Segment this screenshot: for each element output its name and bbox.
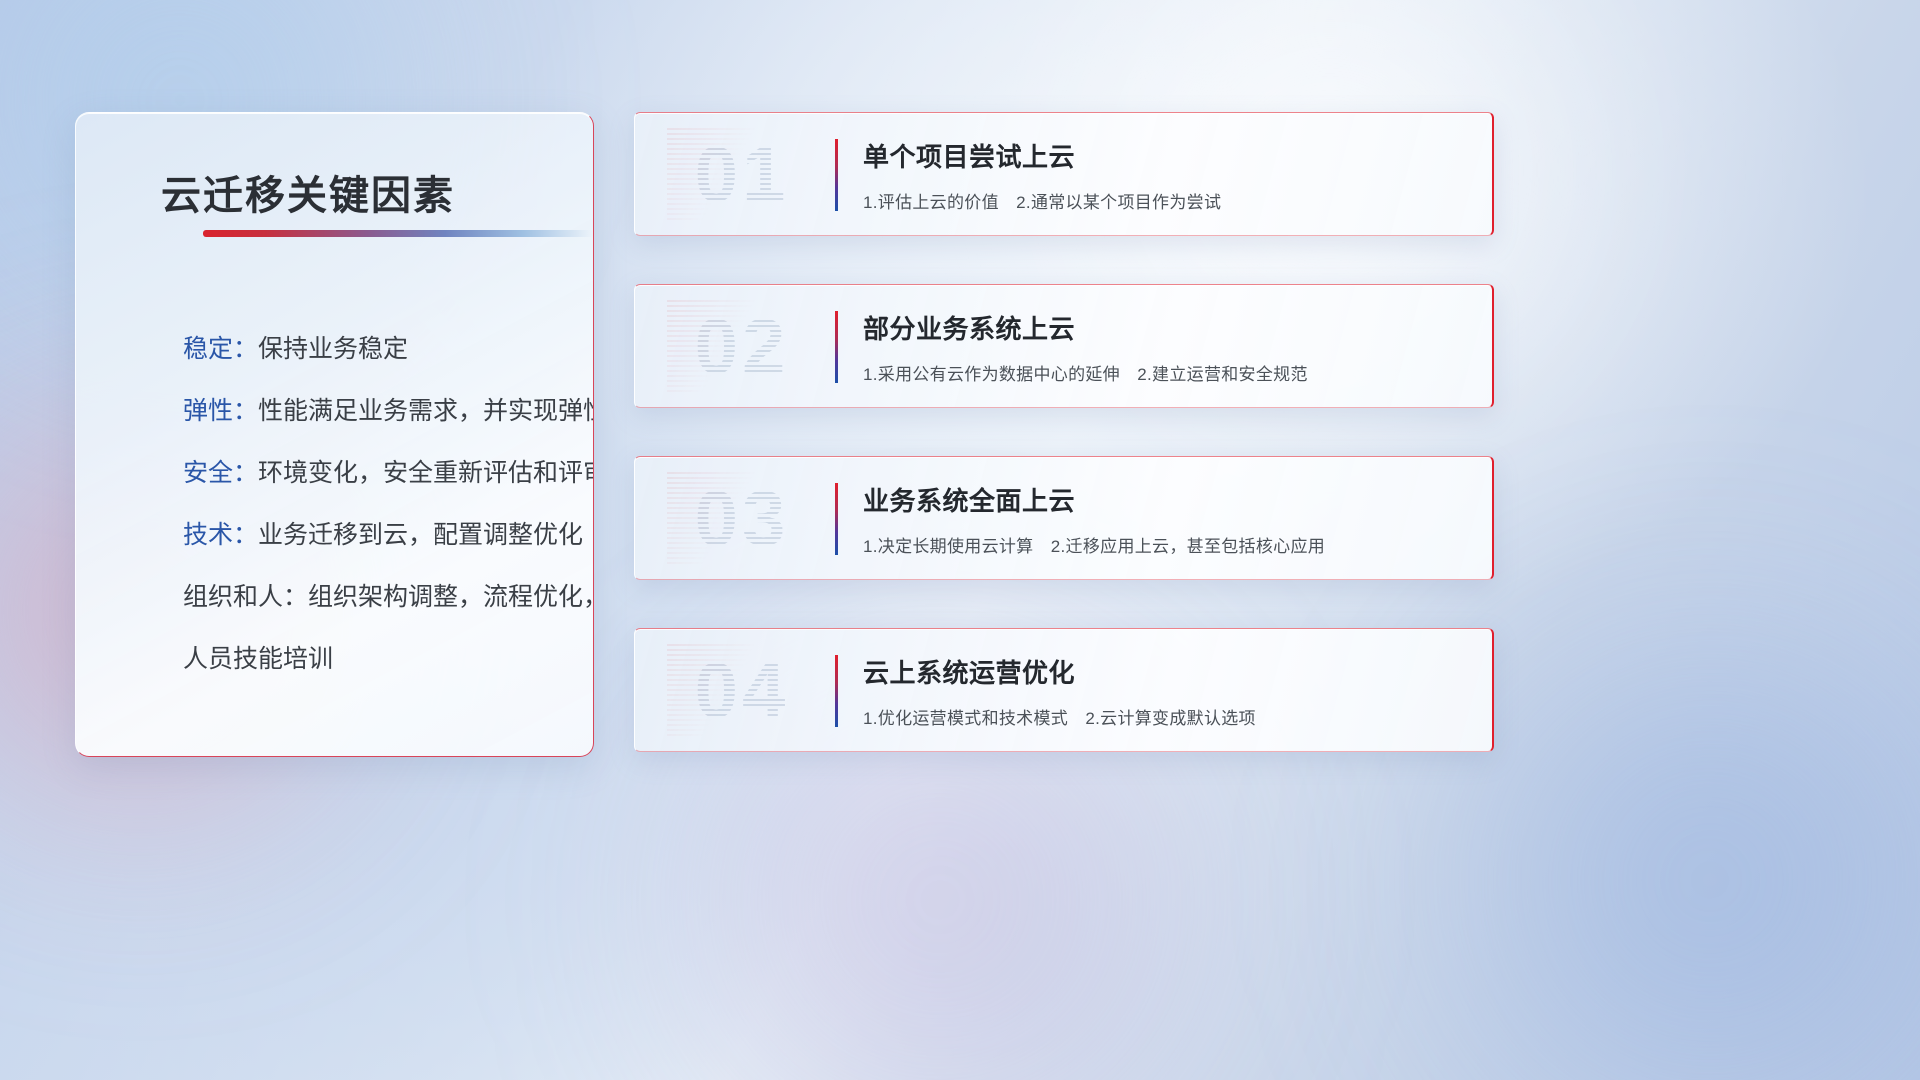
list-item: 稳定：保持业务稳定 [183, 318, 573, 380]
list-item-value: 业务迁移到云，配置调整优化 [258, 521, 583, 549]
page-title: 云迁移关键因素 [161, 163, 455, 221]
slide-stage: 云迁移关键因素 稳定：保持业务稳定 弹性：性能满足业务需求，并实现弹性 安全：环… [0, 0, 1920, 1080]
key-factors-list: 稳定：保持业务稳定 弹性：性能满足业务需求，并实现弹性 安全：环境变化，安全重新… [183, 318, 573, 690]
stage-number-04: 04 [667, 644, 817, 736]
list-item: 技术：业务迁移到云，配置调整优化 [183, 504, 573, 566]
key-factors-panel: 云迁移关键因素 稳定：保持业务稳定 弹性：性能满足业务需求，并实现弹性 安全：环… [75, 112, 594, 757]
stage-number-02: 02 [667, 300, 817, 392]
list-item-key: 稳定： [183, 335, 258, 363]
stage-text-group: 单个项目尝试上云 1.评估上云的价值 2.通常以某个项目作为尝试 [863, 137, 1474, 213]
list-item-value: 性能满足业务需求，并实现弹性 [258, 397, 594, 425]
stage-card-03[interactable]: 03 业务系统全面上云 1.决定长期使用云计算 2.迁移应用上云，甚至包括核心应… [634, 456, 1494, 580]
list-item-value: 组织架构调整，流程优化， [308, 583, 594, 611]
stage-title: 业务系统全面上云 [863, 481, 1474, 518]
list-item: 组织和人：组织架构调整，流程优化， [183, 566, 573, 628]
stage-text-group: 业务系统全面上云 1.决定长期使用云计算 2.迁移应用上云，甚至包括核心应用 [863, 481, 1474, 557]
stage-accent-bar [835, 483, 838, 555]
stage-card-01[interactable]: 01 单个项目尝试上云 1.评估上云的价值 2.通常以某个项目作为尝试 [634, 112, 1494, 236]
stage-subtitle: 1.采用公有云作为数据中心的延伸 2.建立运营和安全规范 [863, 360, 1474, 385]
list-item: 人员技能培训 [183, 628, 573, 690]
stage-card-04[interactable]: 04 云上系统运营优化 1.优化运营模式和技术模式 2.云计算变成默认选项 [634, 628, 1494, 752]
stage-accent-bar [835, 139, 838, 211]
list-item-value: 保持业务稳定 [258, 335, 408, 363]
stage-subtitle: 1.决定长期使用云计算 2.迁移应用上云，甚至包括核心应用 [863, 532, 1474, 557]
stage-title: 单个项目尝试上云 [863, 137, 1474, 174]
stage-subtitle: 1.优化运营模式和技术模式 2.云计算变成默认选项 [863, 704, 1474, 729]
list-item-key: 技术： [183, 521, 258, 549]
stage-number-01: 01 [667, 128, 817, 220]
list-item-value: 人员技能培训 [183, 645, 333, 673]
stage-text-group: 部分业务系统上云 1.采用公有云作为数据中心的延伸 2.建立运营和安全规范 [863, 309, 1474, 385]
stage-card-02[interactable]: 02 部分业务系统上云 1.采用公有云作为数据中心的延伸 2.建立运营和安全规范 [634, 284, 1494, 408]
list-item: 安全：环境变化，安全重新评估和评审 [183, 442, 573, 504]
title-underline-rule [203, 230, 593, 237]
list-item-value: 环境变化，安全重新评估和评审 [258, 459, 594, 487]
stage-subtitle: 1.评估上云的价值 2.通常以某个项目作为尝试 [863, 188, 1474, 213]
stage-text-group: 云上系统运营优化 1.优化运营模式和技术模式 2.云计算变成默认选项 [863, 653, 1474, 729]
list-item: 弹性：性能满足业务需求，并实现弹性 [183, 380, 573, 442]
stage-title: 部分业务系统上云 [863, 309, 1474, 346]
stage-accent-bar [835, 655, 838, 727]
list-item-key: 弹性： [183, 397, 258, 425]
stage-title: 云上系统运营优化 [863, 653, 1474, 690]
stage-number-03: 03 [667, 472, 817, 564]
list-item-key: 组织和人： [183, 583, 308, 611]
stage-accent-bar [835, 311, 838, 383]
list-item-key: 安全： [183, 459, 258, 487]
